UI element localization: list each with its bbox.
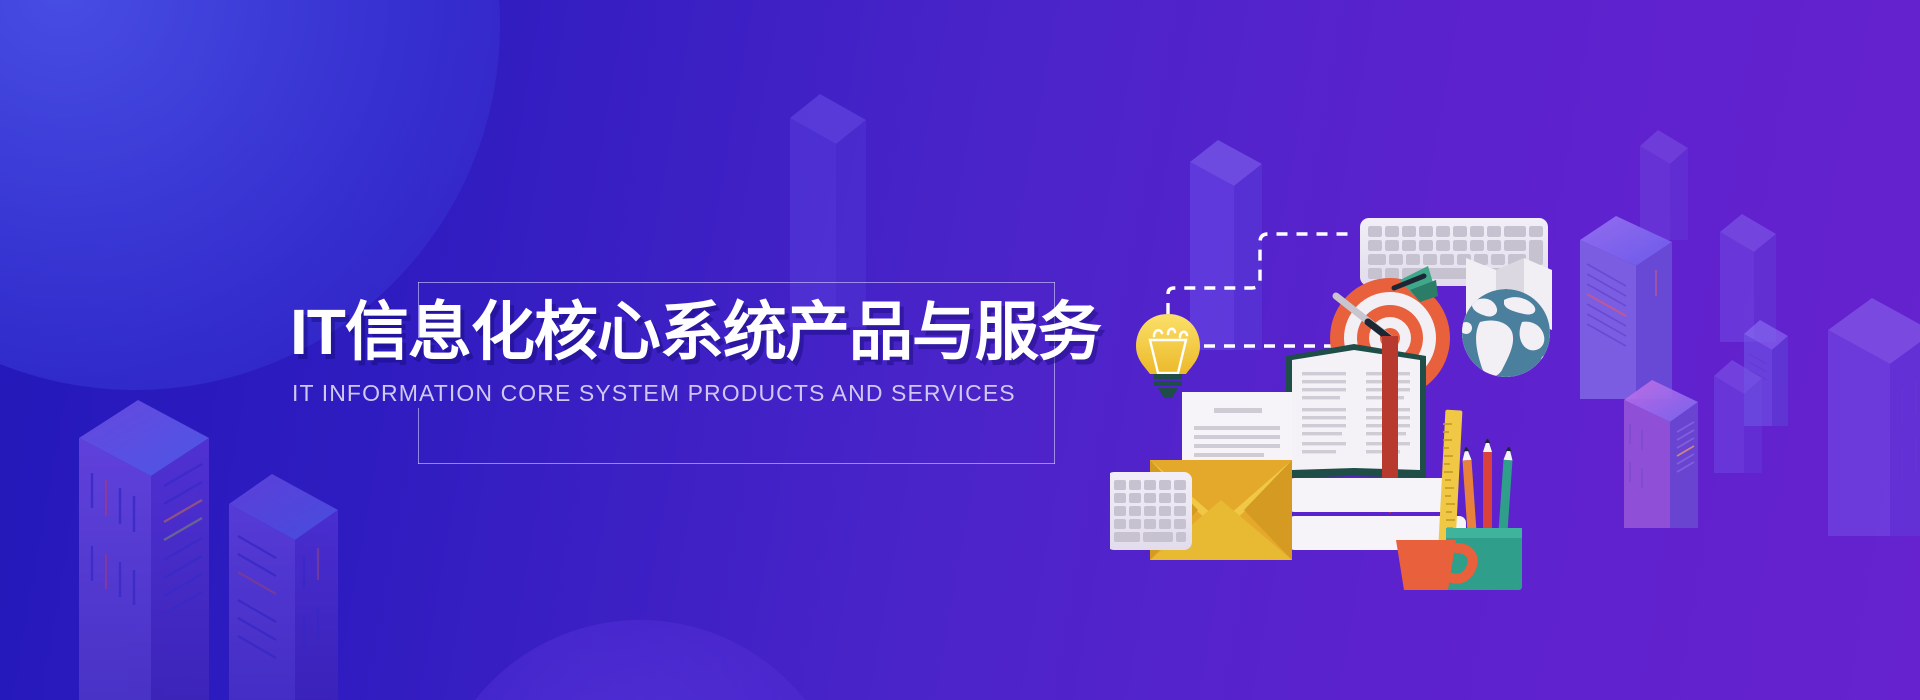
it-education-illustration	[1110, 130, 1580, 600]
page-title: IT信息化核心系统产品与服务	[290, 300, 1190, 364]
book-stack-icon	[1276, 478, 1466, 550]
frame-line-bottom	[418, 463, 1055, 464]
building-right-d	[1712, 358, 1764, 473]
building-right-a	[1578, 214, 1674, 399]
building-right-e	[1742, 318, 1790, 426]
open-book-icon	[1286, 344, 1426, 478]
decor-circle-bottom-center	[430, 620, 850, 700]
hero-text-block: IT信息化核心系统产品与服务 IT INFORMATION CORE SYSTE…	[418, 282, 1055, 464]
building-left-tall	[78, 398, 228, 700]
building-right-f	[1826, 296, 1920, 536]
dashed-connector-path	[1168, 234, 1356, 314]
building-right-b	[1622, 378, 1700, 528]
building-right-g	[1638, 128, 1690, 240]
hero-banner: IT信息化核心系统产品与服务 IT INFORMATION CORE SYSTE…	[0, 0, 1920, 700]
keyboard-bottom-icon	[1110, 472, 1192, 550]
frame-line-top	[418, 282, 1055, 283]
building-left-short	[228, 472, 340, 700]
building-right-c	[1718, 212, 1778, 342]
frame-line-left-lower	[418, 408, 419, 464]
lightbulb-icon	[1136, 314, 1200, 398]
page-subtitle: IT INFORMATION CORE SYSTEM PRODUCTS AND …	[292, 380, 1192, 407]
